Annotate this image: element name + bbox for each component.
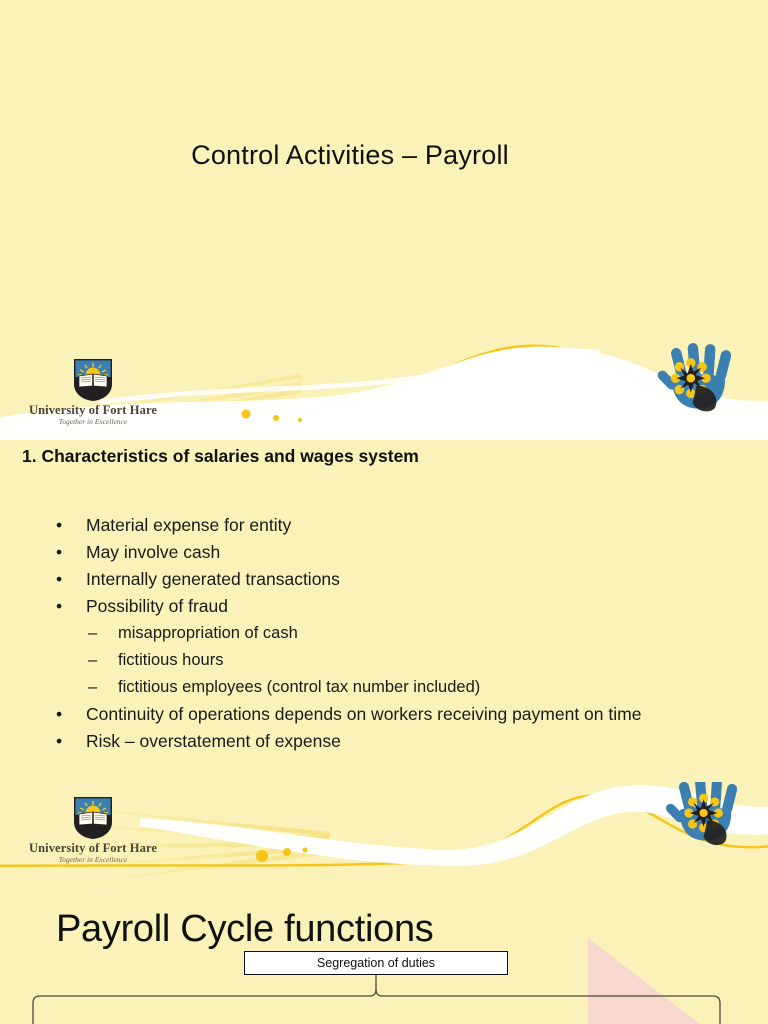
list-item: • Possibility of fraud <box>40 593 740 620</box>
sub-list-item: – fictitious hours <box>40 647 740 674</box>
bullet-marker: • <box>56 539 62 566</box>
list-item: • Internally generated transactions <box>40 566 740 593</box>
ufh-logo-top: University of Fort Hare Together in Exce… <box>18 358 168 426</box>
bullet-marker: • <box>56 701 62 728</box>
list-item-label: May involve cash <box>86 542 220 562</box>
segregation-of-duties-label: Segregation of duties <box>317 956 435 970</box>
list-item-label: Risk – overstatement of expense <box>86 731 341 751</box>
sub-list-item: – misappropriation of cash <box>40 620 740 647</box>
bullet-marker: • <box>56 566 62 593</box>
bullet-marker-dash: – <box>88 620 97 647</box>
sub-list-item: – fictitious employees (control tax numb… <box>40 674 740 701</box>
list-item-label: Continuity of operations depends on work… <box>86 701 718 728</box>
list-item-label: Material expense for entity <box>86 515 291 535</box>
bullet-marker-dash: – <box>88 674 97 701</box>
shield-icon <box>72 358 114 402</box>
sub-list-item-label: misappropriation of cash <box>118 624 298 642</box>
yellow-dot <box>273 415 279 421</box>
ufh-logo-name: University of Fort Hare <box>18 403 168 418</box>
segregation-of-duties-box: Segregation of duties <box>244 951 508 975</box>
bullet-marker: • <box>56 512 62 539</box>
bullet-marker: • <box>56 593 62 620</box>
sub-list-item-label: fictitious hours <box>118 651 223 669</box>
list-item: • Risk – overstatement of expense <box>40 728 740 755</box>
ufh-logo-tagline: Together in Excellence <box>18 417 168 426</box>
list-item: • Material expense for entity <box>40 512 740 539</box>
section-heading: 1. Characteristics of salaries and wages… <box>22 446 419 467</box>
list-item-label: Internally generated transactions <box>86 569 340 589</box>
ufh-logo-name: University of Fort Hare <box>18 841 168 856</box>
org-chart-connector <box>0 975 768 1024</box>
yellow-dot <box>298 418 302 422</box>
sub-list-item-label: fictitious employees (control tax number… <box>118 678 480 696</box>
shield-icon <box>72 796 114 840</box>
yellow-dot <box>283 848 291 856</box>
characteristics-bullet-list: • Material expense for entity • May invo… <box>40 512 740 755</box>
bullet-marker-dash: – <box>88 647 97 674</box>
page-title: Control Activities – Payroll <box>0 140 700 171</box>
yellow-dot <box>256 850 268 862</box>
yellow-dot <box>242 410 251 419</box>
cycle-heading: Payroll Cycle functions <box>56 908 433 951</box>
ufh-logo-tagline: Together in Excellence <box>18 855 168 864</box>
list-item-label: Possibility of fraud <box>86 596 228 616</box>
list-item: • Continuity of operations depends on wo… <box>40 701 740 728</box>
ufh-logo-bottom: University of Fort Hare Together in Exce… <box>18 796 168 864</box>
yellow-dot <box>303 848 308 853</box>
bullet-marker: • <box>56 728 62 755</box>
list-item: • May involve cash <box>40 539 740 566</box>
slide-page: Control Activities – Payroll <box>0 0 768 1024</box>
